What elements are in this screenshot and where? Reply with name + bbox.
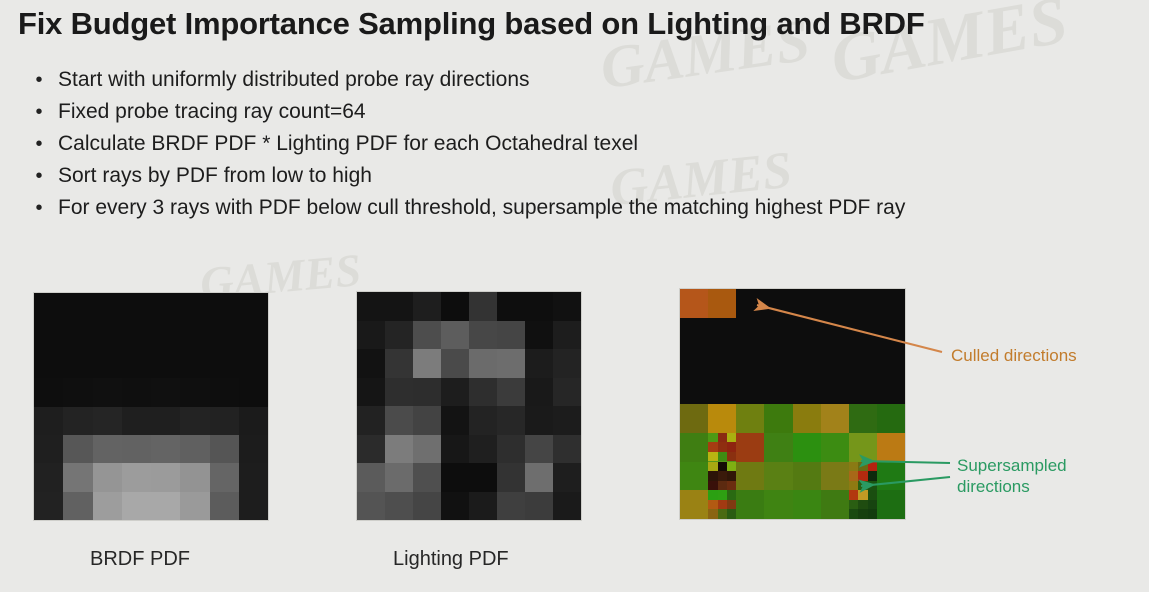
supersampled-subtexel bbox=[708, 500, 717, 510]
brdf-texel bbox=[34, 492, 63, 520]
brdf-texel bbox=[210, 407, 239, 435]
brdf-texel bbox=[180, 350, 209, 378]
bullet-item-label: Fixed probe tracing ray count=64 bbox=[58, 96, 366, 128]
brdf-texel bbox=[151, 463, 180, 491]
brdf-texel bbox=[63, 321, 92, 349]
supersampled-subtexel bbox=[727, 452, 736, 462]
combined-texel bbox=[680, 490, 708, 519]
supersampled-subtexel bbox=[858, 462, 867, 472]
brdf-texel bbox=[34, 350, 63, 378]
supersampled-subtexel bbox=[727, 442, 736, 452]
combined-texel bbox=[708, 490, 736, 519]
brdf-texel bbox=[210, 321, 239, 349]
supersampled-subgrid bbox=[708, 490, 736, 519]
lighting-texel bbox=[441, 378, 469, 407]
lighting-texel bbox=[357, 292, 385, 321]
annotation-label-supersampled-line2: directions bbox=[957, 476, 1067, 497]
lighting-texel bbox=[553, 492, 581, 521]
lighting-texel bbox=[357, 321, 385, 350]
supersampled-subtexel bbox=[708, 509, 717, 519]
lighting-texel bbox=[357, 435, 385, 464]
combined-texel bbox=[736, 433, 764, 462]
caption-lighting-pdf: Lighting PDF bbox=[393, 548, 509, 571]
supersampled-subtexel bbox=[718, 462, 727, 472]
combined-texel bbox=[736, 462, 764, 491]
combined-texel bbox=[680, 433, 708, 462]
brdf-texel bbox=[34, 321, 63, 349]
combined-texel-row bbox=[680, 462, 905, 491]
lighting-texel bbox=[441, 492, 469, 521]
combined-texel bbox=[680, 347, 708, 376]
brdf-texel bbox=[239, 350, 268, 378]
brdf-texel bbox=[34, 463, 63, 491]
supersampled-subtexel bbox=[868, 509, 877, 519]
supersampled-subgrid bbox=[708, 462, 736, 491]
combined-texel-row bbox=[680, 433, 905, 462]
supersampled-subtexel bbox=[718, 452, 727, 462]
bullet-list: •Start with uniformly distributed probe … bbox=[20, 64, 1140, 224]
supersampled-subtexel bbox=[708, 471, 717, 481]
lighting-texel bbox=[525, 378, 553, 407]
lighting-texel bbox=[469, 492, 497, 521]
combined-texel bbox=[708, 433, 736, 462]
brdf-texel bbox=[63, 378, 92, 406]
combined-texel-row bbox=[680, 404, 905, 433]
combined-texel bbox=[793, 347, 821, 376]
brdf-texel bbox=[122, 293, 151, 321]
lighting-texel bbox=[413, 321, 441, 350]
supersampled-subtexel bbox=[868, 471, 877, 481]
brdf-texel bbox=[93, 492, 122, 520]
lighting-texel bbox=[385, 378, 413, 407]
combined-texel bbox=[708, 462, 736, 491]
lighting-texel bbox=[413, 492, 441, 521]
brdf-texel bbox=[210, 463, 239, 491]
supersampled-subtexel bbox=[718, 471, 727, 481]
combined-texel bbox=[736, 289, 764, 318]
lighting-texel bbox=[385, 406, 413, 435]
brdf-texel bbox=[239, 492, 268, 520]
lighting-texel bbox=[497, 406, 525, 435]
supersampled-subtexel bbox=[868, 500, 877, 510]
lighting-texel bbox=[553, 378, 581, 407]
combined-texel bbox=[849, 347, 877, 376]
lighting-texel bbox=[469, 435, 497, 464]
brdf-texel bbox=[34, 407, 63, 435]
combined-texel bbox=[877, 375, 905, 404]
supersampled-subtexel bbox=[727, 433, 736, 443]
lighting-texel bbox=[469, 378, 497, 407]
brdf-texel bbox=[93, 435, 122, 463]
brdf-texel bbox=[180, 321, 209, 349]
bullet-marker-icon: • bbox=[20, 192, 58, 224]
lighting-texel bbox=[413, 435, 441, 464]
brdf-texel bbox=[151, 293, 180, 321]
supersampled-subtexel bbox=[708, 481, 717, 491]
supersampled-subtexel bbox=[718, 442, 727, 452]
supersampled-subtexel bbox=[868, 462, 877, 472]
brdf-texel bbox=[63, 293, 92, 321]
combined-texel-row bbox=[680, 289, 905, 318]
combined-texel bbox=[821, 347, 849, 376]
supersampled-subtexel bbox=[727, 471, 736, 481]
lighting-texel bbox=[441, 435, 469, 464]
lighting-texel bbox=[497, 492, 525, 521]
lighting-texel bbox=[441, 349, 469, 378]
brdf-texel bbox=[93, 321, 122, 349]
combined-texel bbox=[736, 375, 764, 404]
lighting-texel bbox=[469, 349, 497, 378]
lighting-texel bbox=[357, 378, 385, 407]
brdf-texel bbox=[239, 435, 268, 463]
supersampled-subtexel bbox=[727, 500, 736, 510]
bullet-marker-icon: • bbox=[20, 64, 58, 96]
combined-texel bbox=[849, 318, 877, 347]
brdf-texel bbox=[63, 407, 92, 435]
brdf-texel bbox=[151, 407, 180, 435]
brdf-pdf-image bbox=[33, 292, 269, 521]
lighting-texel bbox=[357, 349, 385, 378]
supersampled-subtexel bbox=[849, 509, 858, 519]
lighting-texel bbox=[525, 492, 553, 521]
combined-texel bbox=[849, 289, 877, 318]
lighting-texel bbox=[553, 321, 581, 350]
brdf-texel bbox=[180, 435, 209, 463]
brdf-texel bbox=[151, 350, 180, 378]
combined-texel bbox=[680, 289, 708, 318]
brdf-texel bbox=[239, 321, 268, 349]
combined-texel bbox=[708, 318, 736, 347]
combined-texel bbox=[680, 462, 708, 491]
lighting-texel bbox=[413, 463, 441, 492]
brdf-texel bbox=[122, 463, 151, 491]
bullet-item: •For every 3 rays with PDF below cull th… bbox=[20, 192, 1140, 224]
combined-texel bbox=[764, 404, 792, 433]
brdf-texel bbox=[180, 492, 209, 520]
combined-texel bbox=[821, 462, 849, 491]
lighting-texel bbox=[441, 406, 469, 435]
supersampled-subtexel bbox=[858, 500, 867, 510]
combined-texel bbox=[793, 318, 821, 347]
combined-texel bbox=[877, 404, 905, 433]
brdf-texel bbox=[122, 492, 151, 520]
combined-texel bbox=[821, 490, 849, 519]
lighting-texel bbox=[441, 463, 469, 492]
combined-texel bbox=[736, 490, 764, 519]
brdf-texel bbox=[151, 321, 180, 349]
lighting-texel bbox=[441, 321, 469, 350]
lighting-texel bbox=[553, 463, 581, 492]
supersampled-subtexel bbox=[849, 471, 858, 481]
combined-texel bbox=[877, 347, 905, 376]
brdf-texel bbox=[239, 378, 268, 406]
supersampled-subgrid bbox=[849, 462, 877, 491]
brdf-texel bbox=[122, 378, 151, 406]
combined-texel-row bbox=[680, 318, 905, 347]
supersampled-subtexel bbox=[718, 500, 727, 510]
brdf-texel bbox=[180, 378, 209, 406]
brdf-texel bbox=[122, 350, 151, 378]
combined-texel bbox=[821, 318, 849, 347]
figure-brdf-pdf bbox=[33, 292, 269, 521]
combined-texel bbox=[708, 289, 736, 318]
lighting-texel bbox=[469, 463, 497, 492]
bullet-marker-icon: • bbox=[20, 128, 58, 160]
lighting-texel bbox=[413, 349, 441, 378]
supersampled-subtexel bbox=[849, 500, 858, 510]
lighting-texel bbox=[525, 435, 553, 464]
brdf-texel bbox=[93, 293, 122, 321]
brdf-texel bbox=[93, 407, 122, 435]
combined-texel bbox=[708, 375, 736, 404]
supersampled-subtexel bbox=[849, 462, 858, 472]
combined-texel bbox=[877, 490, 905, 519]
combined-texel bbox=[821, 375, 849, 404]
bullet-item: •Calculate BRDF PDF * Lighting PDF for e… bbox=[20, 128, 1140, 160]
combined-texel-row bbox=[680, 490, 905, 519]
combined-texel bbox=[849, 490, 877, 519]
supersampled-subtexel bbox=[727, 509, 736, 519]
combined-texel bbox=[764, 490, 792, 519]
supersampled-subtexel bbox=[858, 471, 867, 481]
combined-texel bbox=[736, 318, 764, 347]
bullet-item-label: Sort rays by PDF from low to high bbox=[58, 160, 372, 192]
brdf-texel bbox=[210, 293, 239, 321]
supersampled-subtexel bbox=[708, 462, 717, 472]
supersampled-subtexel bbox=[718, 481, 727, 491]
lighting-texel bbox=[525, 406, 553, 435]
combined-texel bbox=[793, 490, 821, 519]
combined-texel bbox=[764, 347, 792, 376]
brdf-texel bbox=[63, 350, 92, 378]
brdf-texel bbox=[93, 378, 122, 406]
lighting-texel bbox=[497, 463, 525, 492]
annotation-label-supersampled: Supersampled directions bbox=[957, 455, 1067, 497]
supersampled-subtexel bbox=[868, 490, 877, 500]
brdf-texel bbox=[151, 492, 180, 520]
combined-texel bbox=[736, 404, 764, 433]
combined-texel bbox=[877, 318, 905, 347]
lighting-texel bbox=[385, 349, 413, 378]
lighting-texel bbox=[385, 463, 413, 492]
figure-combined-pdf bbox=[679, 288, 906, 520]
combined-texel bbox=[877, 289, 905, 318]
brdf-texel bbox=[34, 435, 63, 463]
combined-texel bbox=[680, 404, 708, 433]
lighting-texel bbox=[357, 406, 385, 435]
combined-texel-row bbox=[680, 347, 905, 376]
combined-texel-row bbox=[680, 375, 905, 404]
supersampled-subtexel bbox=[708, 433, 717, 443]
combined-texel bbox=[680, 318, 708, 347]
brdf-texel bbox=[180, 407, 209, 435]
bullet-item: •Sort rays by PDF from low to high bbox=[20, 160, 1140, 192]
caption-brdf-pdf: BRDF PDF bbox=[90, 548, 190, 571]
brdf-texel bbox=[63, 492, 92, 520]
combined-texel bbox=[821, 433, 849, 462]
supersampled-subgrid bbox=[708, 433, 736, 462]
figure-lighting-pdf bbox=[356, 291, 582, 521]
combined-texel bbox=[764, 433, 792, 462]
annotation-label-supersampled-line1: Supersampled bbox=[957, 455, 1067, 476]
lighting-texel bbox=[525, 292, 553, 321]
lighting-texel bbox=[385, 292, 413, 321]
combined-texel bbox=[877, 462, 905, 491]
combined-texel bbox=[793, 404, 821, 433]
lighting-texel bbox=[385, 435, 413, 464]
lighting-texel bbox=[413, 292, 441, 321]
bullet-item-label: For every 3 rays with PDF below cull thr… bbox=[58, 192, 905, 224]
bullet-item: •Start with uniformly distributed probe … bbox=[20, 64, 1140, 96]
brdf-texel bbox=[151, 378, 180, 406]
supersampled-subtexel bbox=[858, 509, 867, 519]
brdf-texel bbox=[63, 435, 92, 463]
supersampled-subtexel bbox=[858, 481, 867, 491]
combined-texel bbox=[849, 433, 877, 462]
combined-texel bbox=[849, 375, 877, 404]
combined-texel bbox=[764, 462, 792, 491]
annotation-label-culled: Culled directions bbox=[951, 345, 1077, 366]
lighting-texel bbox=[525, 463, 553, 492]
bullet-marker-icon: • bbox=[20, 96, 58, 128]
brdf-texel bbox=[210, 350, 239, 378]
brdf-texel bbox=[239, 293, 268, 321]
combined-texel bbox=[764, 318, 792, 347]
supersampled-subtexel bbox=[868, 481, 877, 491]
combined-texel bbox=[793, 433, 821, 462]
lighting-texel bbox=[553, 292, 581, 321]
brdf-texel bbox=[180, 463, 209, 491]
lighting-texel bbox=[525, 321, 553, 350]
supersampled-subtexel bbox=[727, 462, 736, 472]
page-title: Fix Budget Importance Sampling based on … bbox=[18, 4, 925, 44]
supersampled-subtexel bbox=[858, 490, 867, 500]
supersampled-subtexel bbox=[727, 490, 736, 500]
lighting-texel bbox=[385, 321, 413, 350]
lighting-texel bbox=[497, 292, 525, 321]
lighting-texel bbox=[385, 492, 413, 521]
combined-texel bbox=[793, 462, 821, 491]
combined-texel bbox=[708, 404, 736, 433]
brdf-texel bbox=[93, 463, 122, 491]
lighting-texel bbox=[525, 349, 553, 378]
supersampled-subtexel bbox=[708, 452, 717, 462]
supersampled-subtexel bbox=[718, 490, 727, 500]
lighting-texel bbox=[497, 435, 525, 464]
brdf-texel bbox=[239, 463, 268, 491]
supersampled-subtexel bbox=[849, 481, 858, 491]
combined-texel bbox=[849, 462, 877, 491]
supersampled-subtexel bbox=[708, 442, 717, 452]
combined-texel bbox=[849, 404, 877, 433]
lighting-texel bbox=[469, 292, 497, 321]
brdf-texel bbox=[210, 492, 239, 520]
supersampled-subtexel bbox=[727, 481, 736, 491]
bullet-marker-icon: • bbox=[20, 160, 58, 192]
brdf-texel bbox=[239, 407, 268, 435]
supersampled-subtexel bbox=[718, 509, 727, 519]
supersampled-subtexel bbox=[718, 433, 727, 443]
bullet-item: •Fixed probe tracing ray count=64 bbox=[20, 96, 1140, 128]
brdf-texel bbox=[210, 435, 239, 463]
lighting-texel bbox=[497, 378, 525, 407]
lighting-texel bbox=[553, 435, 581, 464]
combined-texel bbox=[793, 289, 821, 318]
combined-texel bbox=[877, 433, 905, 462]
supersampled-subtexel bbox=[708, 490, 717, 500]
lighting-texel bbox=[413, 378, 441, 407]
combined-texel bbox=[764, 375, 792, 404]
lighting-texel bbox=[553, 406, 581, 435]
bullet-item-label: Calculate BRDF PDF * Lighting PDF for ea… bbox=[58, 128, 638, 160]
combined-texel bbox=[821, 404, 849, 433]
brdf-texel bbox=[180, 293, 209, 321]
bullet-item-label: Start with uniformly distributed probe r… bbox=[58, 64, 530, 96]
lighting-texel bbox=[357, 492, 385, 521]
lighting-texel bbox=[357, 463, 385, 492]
supersampled-subgrid bbox=[849, 490, 877, 519]
brdf-texel bbox=[210, 378, 239, 406]
brdf-texel bbox=[122, 407, 151, 435]
combined-pdf-image bbox=[679, 288, 906, 520]
lighting-texel bbox=[553, 349, 581, 378]
lighting-texel bbox=[497, 321, 525, 350]
lighting-texel bbox=[413, 406, 441, 435]
brdf-texel bbox=[122, 321, 151, 349]
lighting-texel bbox=[497, 349, 525, 378]
combined-texel bbox=[821, 289, 849, 318]
combined-texel bbox=[736, 347, 764, 376]
lighting-texel bbox=[441, 292, 469, 321]
combined-texel bbox=[764, 289, 792, 318]
combined-texel bbox=[708, 347, 736, 376]
combined-texel bbox=[680, 375, 708, 404]
combined-texel bbox=[793, 375, 821, 404]
supersampled-subtexel bbox=[849, 490, 858, 500]
brdf-texel bbox=[34, 378, 63, 406]
brdf-texel bbox=[93, 350, 122, 378]
brdf-texel bbox=[151, 435, 180, 463]
lighting-pdf-image bbox=[356, 291, 582, 521]
lighting-texel bbox=[469, 406, 497, 435]
brdf-texel bbox=[34, 293, 63, 321]
brdf-texel bbox=[63, 463, 92, 491]
brdf-texel bbox=[122, 435, 151, 463]
lighting-texel bbox=[469, 321, 497, 350]
